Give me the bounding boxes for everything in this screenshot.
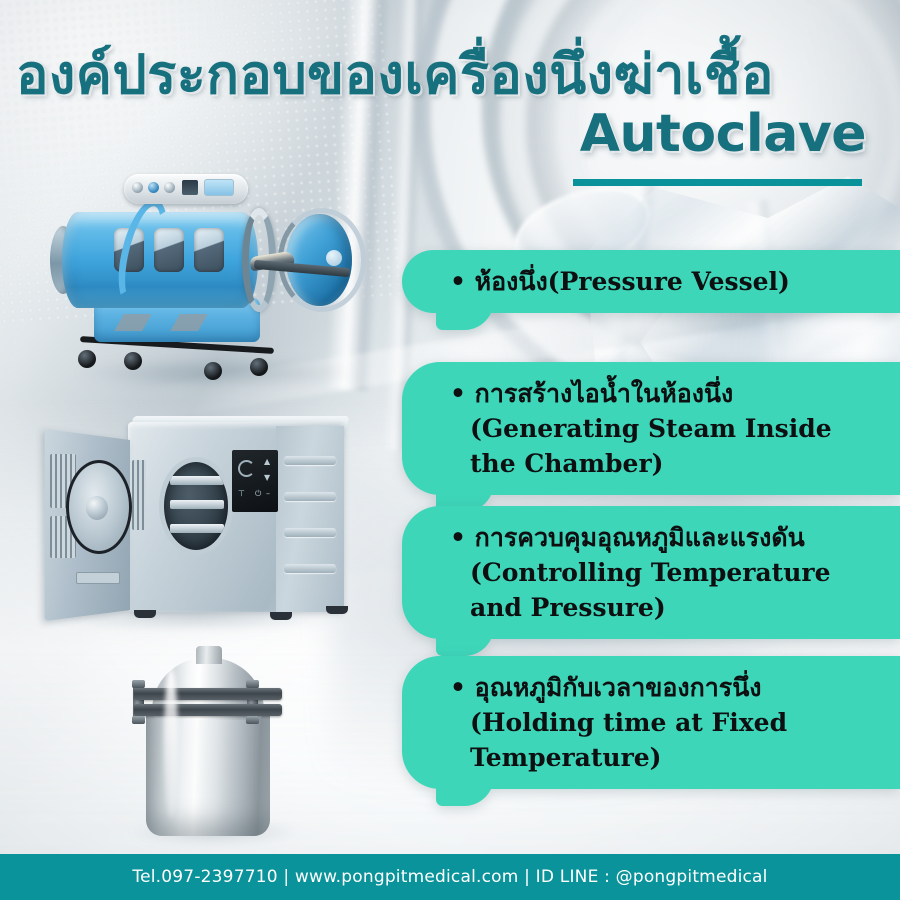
vessel-flange-nut <box>132 680 145 688</box>
page-title-thai: องค์ประกอบของเครื่องนึ่งฆ่าเชื้อ <box>16 44 886 106</box>
autoclave-foot <box>134 610 156 618</box>
power-icon: ⏻ <box>255 490 261 498</box>
trolley-caster-wheel <box>204 362 222 380</box>
control-knob <box>164 182 175 193</box>
vessel-flange-nut <box>132 716 145 724</box>
infographic-poster: องค์ประกอบของเครื่องนึ่งฆ่าเชื้อ Autocla… <box>0 0 900 900</box>
callout-bubble-controlling-temp-pressure: • การควบคุมอุณหภูมิและแรงดัน (Controllin… <box>402 506 900 639</box>
control-knob <box>132 182 143 193</box>
chamber-door-port <box>326 250 342 266</box>
minus-icon: – <box>266 490 270 498</box>
temperature-icon: ⊤ <box>238 490 245 498</box>
down-arrow-icon: ▼ <box>264 474 270 482</box>
callout-bubble-generating-steam: • การสร้างไอน้ำในห้องนึ่ง (Generating St… <box>402 362 900 495</box>
autoclave-door-handle <box>86 496 108 520</box>
trolley-caster-wheel <box>124 352 142 370</box>
vessel-specular-highlight <box>164 668 178 818</box>
callout-bubble-pressure-vessel: • ห้องนึ่ง(Pressure Vessel) <box>402 250 900 313</box>
autoclave-control-panel <box>232 450 278 512</box>
vessel-flange-ring <box>134 704 282 716</box>
autoclave-foot <box>326 606 348 614</box>
callout-text: • การควบคุมอุณหภูมิและแรงดัน (Controllin… <box>450 520 880 625</box>
product-image-benchtop-autoclave: ▲ ▼ ⏻ – ⊤ <box>32 412 372 640</box>
autoclave-side-panel <box>276 426 344 612</box>
footer-contact-bar: Tel.097-2397710 | www.pongpitmedical.com… <box>0 854 900 900</box>
vessel-neck-port <box>196 646 222 664</box>
callout-bubble-holding-time: • อุณหภูมิกับเวลาของการนึ่ง (Holding tim… <box>402 656 900 789</box>
autoclave-program-dial <box>238 460 255 477</box>
footer-contact-text: Tel.097-2397710 | www.pongpitmedical.com… <box>132 867 767 887</box>
vessel-flange-nut <box>246 680 259 688</box>
autoclave-front-slot <box>76 572 120 584</box>
autoclave-tray <box>170 476 224 485</box>
autoclave-side-fin <box>284 528 336 537</box>
title-accent-bar <box>573 179 862 186</box>
callout-text: • การสร้างไอน้ำในห้องนึ่ง (Generating St… <box>450 376 880 481</box>
chamber-door <box>286 214 352 306</box>
autoclave-side-fin <box>284 564 336 573</box>
vessel-flange-nut <box>246 716 259 724</box>
autoclave-side-fin <box>284 492 336 501</box>
autoclave-tray <box>170 500 224 509</box>
autoclave-foot <box>270 612 292 620</box>
page-title-english: Autoclave <box>580 104 866 164</box>
product-image-pressure-vessel-pot <box>108 644 348 854</box>
vessel-flange-ring <box>134 688 282 700</box>
control-knob <box>148 182 159 193</box>
control-display-small <box>182 180 198 195</box>
autoclave-tray <box>170 524 224 533</box>
trolley-caster-wheel <box>250 358 268 376</box>
trolley-caster-wheel <box>78 350 96 368</box>
product-image-hyperbaric-chamber-trolley <box>58 172 388 400</box>
autoclave-vent-grille <box>132 460 146 530</box>
callout-text: • อุณหภูมิกับเวลาของการนึ่ง (Holding tim… <box>450 670 880 775</box>
autoclave-side-fin <box>284 456 336 465</box>
autoclave-chamber-opening <box>164 462 228 550</box>
control-display-main <box>204 179 234 196</box>
chamber-viewport-window <box>194 228 224 272</box>
up-arrow-icon: ▲ <box>264 458 270 466</box>
callout-text: • ห้องนึ่ง(Pressure Vessel) <box>450 264 880 299</box>
